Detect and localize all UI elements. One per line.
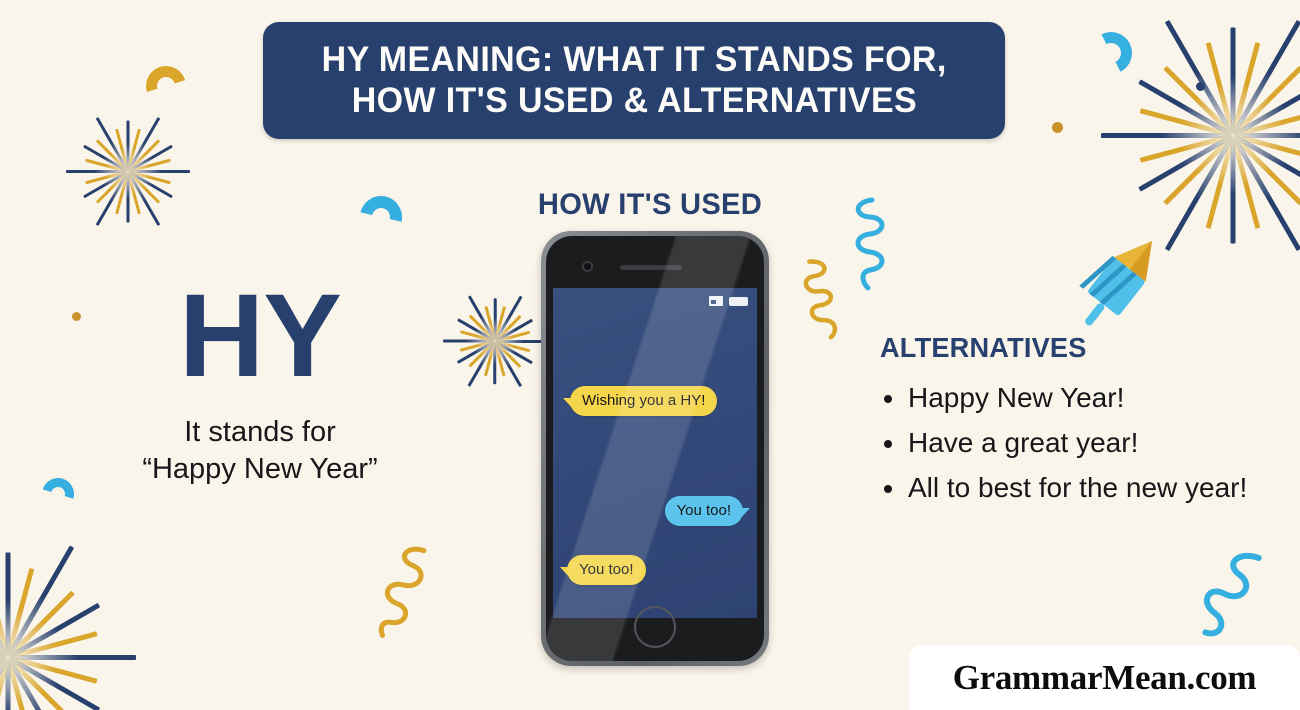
- how-its-used-heading: HOW IT'S USED: [427, 188, 873, 222]
- confetti-dot-gold: [72, 312, 81, 321]
- message-text: Wishing you a HY!: [582, 392, 705, 409]
- bubble-tail-icon: [740, 508, 750, 519]
- message-text: You too!: [579, 561, 634, 578]
- title-banner: HY MEANING: WHAT IT STANDS FOR, HOW IT'S…: [263, 22, 1005, 139]
- description-line-2: “Happy New Year”: [100, 451, 420, 488]
- description-line-1: It stands for: [100, 414, 420, 451]
- abbreviation-block: HY It stands for “Happy New Year”: [100, 280, 420, 488]
- alternatives-title: ALTERNATIVES: [880, 332, 1278, 364]
- battery-icon: [729, 297, 748, 306]
- speaker-grille: [620, 265, 682, 270]
- crescent-blue-mid-left: [352, 188, 410, 246]
- watermark-text: GrammarMean.com: [953, 658, 1257, 698]
- status-bar: [709, 296, 748, 306]
- streamer-gold-bottom-center: [367, 542, 438, 640]
- alternatives-block: ALTERNATIVES Happy New Year! Have a grea…: [880, 332, 1290, 510]
- streamer-gold-center: [792, 255, 855, 347]
- crescent-blue-left-edge: [36, 472, 79, 515]
- title-line-1: HY MEANING: WHAT IT STANDS FOR,: [321, 40, 946, 81]
- message-bubble: You too!: [665, 496, 744, 526]
- title-line-2: HOW IT'S USED & ALTERNATIVES: [351, 81, 916, 122]
- list-item: Happy New Year!: [880, 376, 1290, 421]
- message-bubble: Wishing you a HY!: [570, 386, 717, 416]
- list-item: Have a great year!: [880, 421, 1290, 466]
- streamer-blue-bottom-right: [1193, 546, 1266, 646]
- phone-mockup: Wishing you a HY! You too! You too!: [541, 231, 769, 666]
- crescent-gold-top-left: [139, 59, 193, 113]
- bubble-tail-icon: [563, 398, 573, 409]
- home-button[interactable]: [634, 606, 676, 648]
- list-item: All to best for the new year!: [880, 466, 1290, 511]
- abbreviation-text: HY: [100, 280, 420, 392]
- infographic-canvas: HY MEANING: WHAT IT STANDS FOR, HOW IT'S…: [0, 0, 1300, 710]
- bubble-tail-icon: [560, 567, 570, 578]
- confetti-dot-navy: [1052, 122, 1063, 133]
- phone-screen: Wishing you a HY! You too! You too!: [553, 288, 757, 618]
- crescent-blue-top-right: [1085, 27, 1138, 80]
- abbreviation-description: It stands for “Happy New Year”: [100, 414, 420, 488]
- rocket-firework: [1072, 226, 1168, 343]
- message-text: You too!: [677, 502, 732, 519]
- alternatives-list: Happy New Year! Have a great year! All t…: [880, 376, 1290, 510]
- phone-body: Wishing you a HY! You too! You too!: [546, 236, 764, 661]
- message-bubble: You too!: [567, 555, 646, 585]
- watermark-badge: GrammarMean.com: [909, 645, 1300, 710]
- signal-icon: [709, 296, 723, 306]
- confetti-dot-navy: [1196, 82, 1205, 91]
- camera-icon: [582, 261, 593, 272]
